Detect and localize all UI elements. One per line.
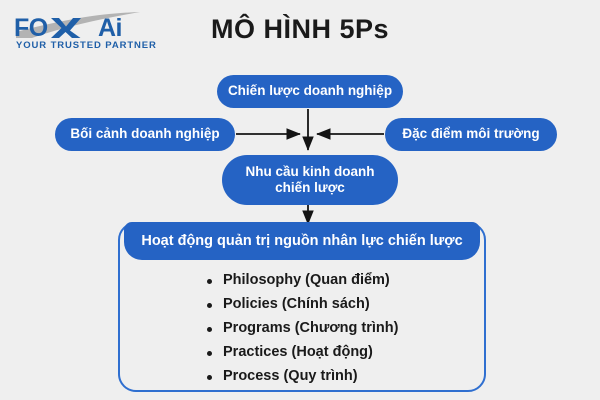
node-strategic-business-needs[interactable]: Nhu cầu kinh doanh chiến lược	[222, 155, 398, 205]
node-environment-characteristics-label: Đặc điểm môi trường	[402, 126, 539, 142]
needs-line-1: Nhu cầu kinh doanh	[245, 164, 374, 179]
hr-activities-header[interactable]: Hoạt động quản trị nguồn nhân lực chiến …	[124, 222, 480, 260]
node-strategic-business-needs-label: Nhu cầu kinh doanh chiến lược	[245, 164, 374, 197]
ps-list: Philosophy (Quan điểm) Policies (Chính s…	[205, 272, 398, 384]
needs-line-2: chiến lược	[275, 180, 345, 195]
list-item: Philosophy (Quan điểm)	[205, 272, 398, 288]
node-business-strategy[interactable]: Chiến lược doanh nghiệp	[217, 75, 403, 108]
node-business-context-label: Bối cảnh doanh nghiệp	[70, 126, 219, 142]
page-title: MÔ HÌNH 5Ps	[0, 14, 600, 45]
diagram-canvas: FO Ai YOUR TRUSTED PARTNER MÔ HÌNH 5Ps	[0, 0, 600, 400]
list-item: Practices (Hoạt động)	[205, 344, 398, 360]
list-item: Programs (Chương trình)	[205, 320, 398, 336]
node-business-context[interactable]: Bối cảnh doanh nghiệp	[55, 118, 235, 151]
node-environment-characteristics[interactable]: Đặc điểm môi trường	[385, 118, 557, 151]
list-item: Process (Quy trình)	[205, 368, 398, 384]
node-business-strategy-label: Chiến lược doanh nghiệp	[228, 83, 392, 99]
list-item: Policies (Chính sách)	[205, 296, 398, 312]
hr-activities-header-label: Hoạt động quản trị nguồn nhân lực chiến …	[141, 233, 462, 249]
